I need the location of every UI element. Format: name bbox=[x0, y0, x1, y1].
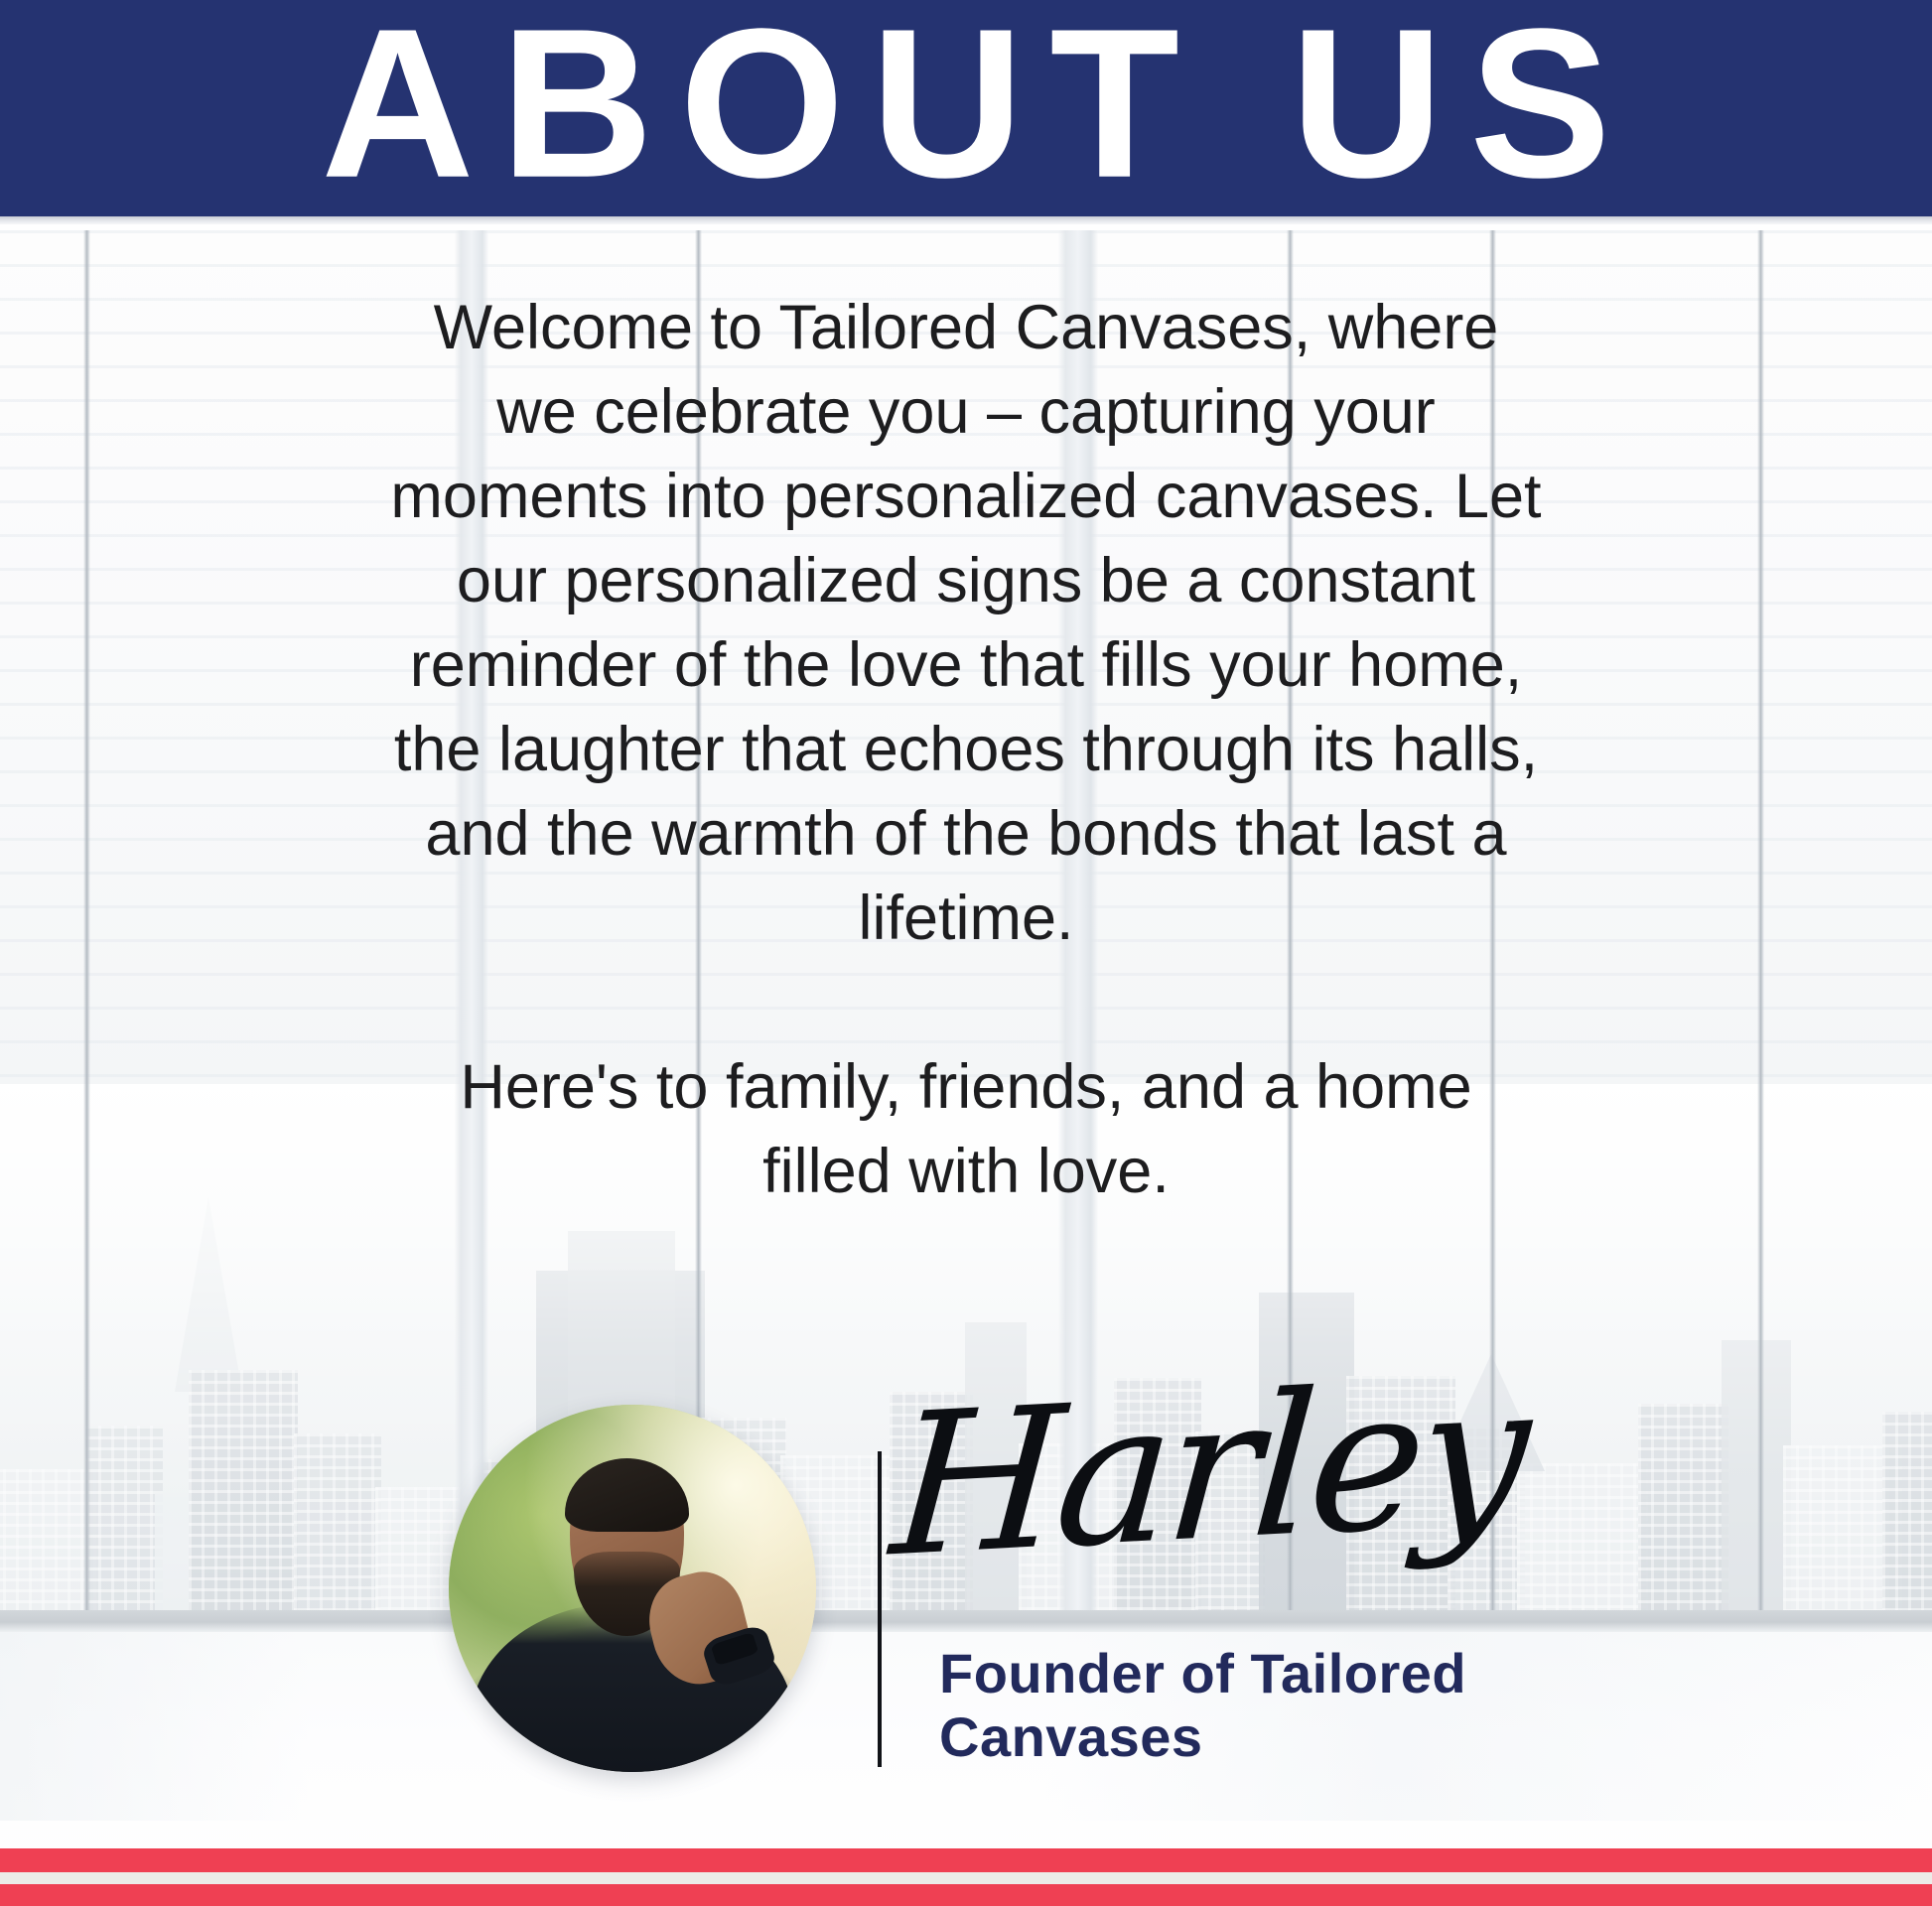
header-underline-rule bbox=[0, 216, 1932, 224]
window-ledge bbox=[0, 1610, 1932, 1632]
window-mullion bbox=[83, 230, 90, 1620]
about-us-card: ABOUT US Welcome to Tailored Canvases, w… bbox=[0, 0, 1932, 1906]
paragraph-spacer bbox=[390, 961, 1542, 1045]
avatar-hair bbox=[565, 1458, 690, 1532]
signature-divider bbox=[878, 1451, 882, 1767]
founder-signature: Harley bbox=[887, 1356, 1535, 1584]
header-band: ABOUT US bbox=[0, 0, 1932, 216]
about-paragraph-2: Here's to family, friends, and a home fi… bbox=[390, 1045, 1542, 1214]
footer-stripe-top bbox=[0, 1848, 1932, 1872]
about-paragraph-1: Welcome to Tailored Canvases, where we c… bbox=[390, 286, 1542, 961]
page-title: ABOUT US bbox=[0, 0, 1932, 210]
avatar-photo bbox=[449, 1405, 816, 1772]
founder-role-line-1: Founder of Tailored bbox=[939, 1642, 1575, 1705]
window-mullion bbox=[1757, 230, 1764, 1620]
avatar bbox=[449, 1405, 816, 1772]
footer-stripe-gap bbox=[0, 1872, 1932, 1884]
footer-stripe-bottom bbox=[0, 1884, 1932, 1906]
about-copy: Welcome to Tailored Canvases, where we c… bbox=[390, 286, 1542, 1214]
founder-role: Founder of Tailored Canvases bbox=[939, 1642, 1575, 1769]
founder-role-line-2: Canvases bbox=[939, 1705, 1575, 1769]
